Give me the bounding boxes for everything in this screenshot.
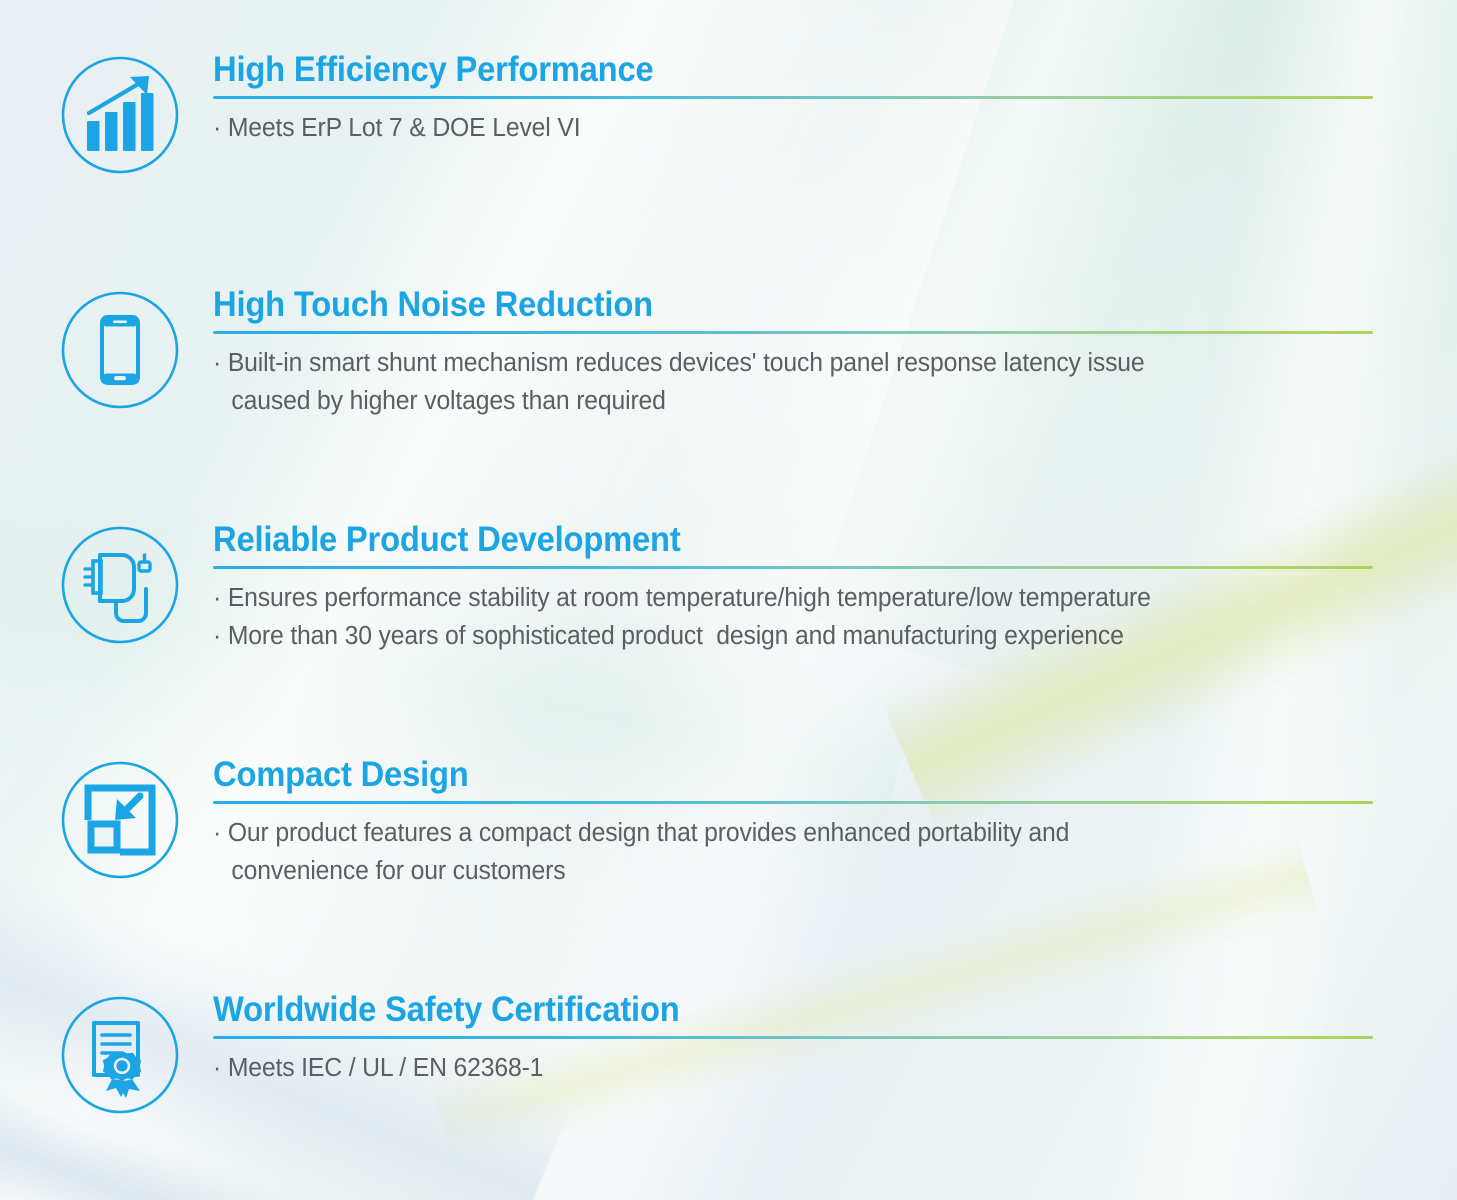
feature-highlights-page: High Efficiency Performance· Meets ErP L… xyxy=(0,0,1457,1200)
feature-title: Worldwide Safety Certification xyxy=(213,990,1298,1029)
feature-bullet-list: · Ensures performance stability at room … xyxy=(213,580,1338,655)
feature-content: Compact Design· Our product features a c… xyxy=(213,755,1373,890)
feature-bullet-list: · Meets IEC / UL / EN 62368-1 xyxy=(213,1050,1338,1087)
feature-bullet: caused by higher voltages than required xyxy=(213,383,1338,420)
feature-divider xyxy=(213,331,1373,334)
feature-bullet: · Built-in smart shunt mechanism reduces… xyxy=(213,345,1338,382)
feature-bullet: convenience for our customers xyxy=(213,853,1338,890)
feature-divider xyxy=(213,566,1373,569)
feature-content: Worldwide Safety Certification· Meets IE… xyxy=(213,990,1373,1088)
feature-divider xyxy=(213,801,1373,804)
feature-title: Compact Design xyxy=(213,755,1298,794)
certificate-seal-icon xyxy=(60,995,180,1115)
feature-bullet: · More than 30 years of sophisticated pr… xyxy=(213,618,1338,655)
feature-content: High Efficiency Performance· Meets ErP L… xyxy=(213,50,1373,148)
feature-divider xyxy=(213,1036,1373,1039)
bar-chart-growth-icon xyxy=(60,55,180,175)
feature-divider xyxy=(213,96,1373,99)
feature-bullet-list: · Meets ErP Lot 7 & DOE Level VI xyxy=(213,110,1338,147)
compact-resize-icon xyxy=(60,760,180,880)
feature-bullet: · Meets IEC / UL / EN 62368-1 xyxy=(213,1050,1338,1087)
feature-bullet-list: · Our product features a compact design … xyxy=(213,815,1338,890)
smartphone-icon xyxy=(60,290,180,410)
feature-title: High Efficiency Performance xyxy=(213,50,1298,89)
feature-bullet-list: · Built-in smart shunt mechanism reduces… xyxy=(213,345,1338,420)
feature-list: High Efficiency Performance· Meets ErP L… xyxy=(0,0,1457,1200)
power-adapter-icon xyxy=(60,525,180,645)
feature-content: Reliable Product Development· Ensures pe… xyxy=(213,520,1373,655)
feature-bullet: · Meets ErP Lot 7 & DOE Level VI xyxy=(213,110,1338,147)
feature-content: High Touch Noise Reduction· Built-in sma… xyxy=(213,285,1373,420)
feature-title: High Touch Noise Reduction xyxy=(213,285,1298,324)
feature-title: Reliable Product Development xyxy=(213,520,1298,559)
feature-bullet: · Our product features a compact design … xyxy=(213,815,1338,852)
feature-bullet: · Ensures performance stability at room … xyxy=(213,580,1338,617)
